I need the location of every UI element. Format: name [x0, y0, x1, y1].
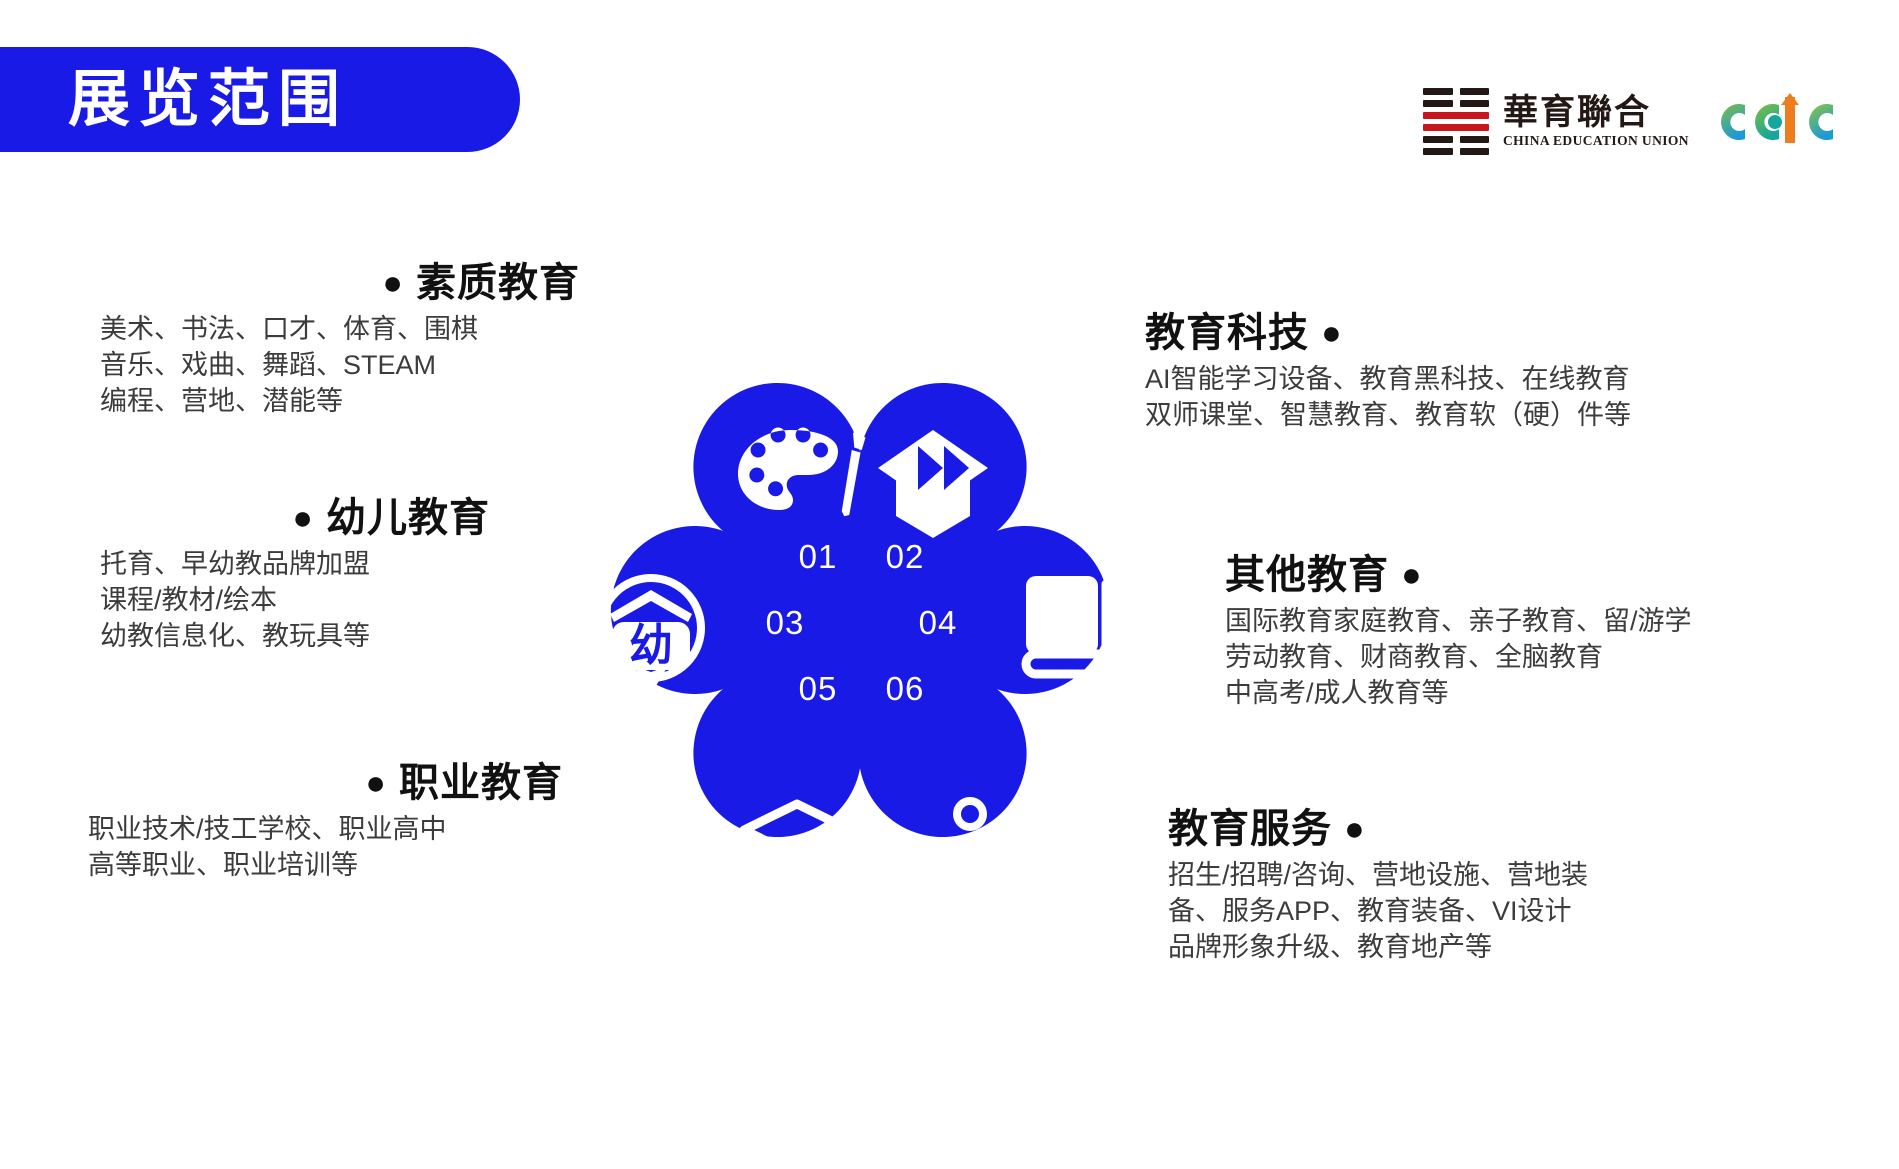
category-heading-05: ● 职业教育 [88, 760, 563, 806]
category-desc-line: 劳动教育、财商教育、全脑教育 [1225, 640, 1692, 676]
page-title-banner: 展览范围 [0, 47, 520, 152]
category-heading-02: 教育科技 ● [1145, 310, 1631, 356]
bullet-icon: ● [1401, 556, 1423, 594]
logo-en-name: CHINA EDUCATION UNION [1503, 133, 1689, 149]
bullet-icon: ● [292, 499, 314, 537]
svg-text:幼: 幼 [629, 621, 673, 670]
category-block-04: 其他教育 ● 国际教育家庭教育、亲子教育、留/游学 劳动教育、财商教育、全脑教育… [1225, 552, 1692, 712]
category-desc-line: 课程/教材/绘本 [100, 583, 490, 619]
category-desc-line: 音乐、戏曲、舞蹈、STEAM [100, 348, 580, 384]
category-desc-line: 品牌形象升级、教育地产等 [1168, 930, 1588, 966]
category-desc-line: AI智能学习设备、教育黑科技、在线教育 [1145, 362, 1631, 398]
category-desc-line: 国际教育家庭教育、亲子教育、留/游学 [1225, 604, 1692, 640]
category-desc-line: 中高考/成人教育等 [1225, 676, 1692, 712]
category-title-06: 教育服务 [1168, 807, 1332, 851]
logo-group: 華育聯合 CHINA EDUCATION UNION [1423, 88, 1841, 155]
category-desc-line: 美术、书法、口才、体育、围棋 [100, 312, 580, 348]
petal-number-04: 04 [919, 604, 958, 641]
bullet-icon: ● [1344, 810, 1366, 848]
category-desc-line: 备、服务APP、教育装备、VI设计 [1168, 894, 1588, 930]
category-block-06: 教育服务 ● 招生/招聘/咨询、营地设施、营地装 备、服务APP、教育装备、VI… [1168, 806, 1588, 966]
bullet-icon: ● [382, 264, 404, 302]
petal-number-01: 01 [799, 538, 838, 575]
ceic-logo-icon [1711, 91, 1841, 153]
logo-cn-name: 華育聯合 [1503, 94, 1689, 132]
logo-wordmark: 華育聯合 CHINA EDUCATION UNION [1503, 94, 1689, 150]
category-desc-line: 双师课堂、智慧教育、教育软（硬）件等 [1145, 398, 1631, 434]
category-desc-line: 高等职业、职业培训等 [88, 848, 563, 884]
category-title-02: 教育科技 [1145, 311, 1309, 355]
category-heading-04: 其他教育 ● [1225, 552, 1692, 598]
petal-number-02: 02 [886, 538, 925, 575]
category-heading-06: 教育服务 ● [1168, 806, 1588, 852]
category-block-02: 教育科技 ● AI智能学习设备、教育黑科技、在线教育 双师课堂、智慧教育、教育软… [1145, 310, 1631, 434]
category-desc-line: 招生/招聘/咨询、营地设施、营地装 [1168, 858, 1588, 894]
category-block-01: ● 素质教育 美术、书法、口才、体育、围棋 音乐、戏曲、舞蹈、STEAM 编程、… [100, 260, 580, 420]
category-title-03: 幼儿教育 [326, 496, 490, 540]
page-title: 展览范围 [68, 69, 348, 131]
bullet-icon: ● [1321, 314, 1343, 352]
category-desc-line: 托育、早幼教品牌加盟 [100, 547, 490, 583]
china-education-union-logo: 華育聯合 CHINA EDUCATION UNION [1423, 88, 1689, 155]
category-title-01: 素质教育 [416, 261, 580, 305]
category-desc-line: 编程、营地、潜能等 [100, 384, 580, 420]
category-block-03: ● 幼儿教育 托育、早幼教品牌加盟 课程/教材/绘本 幼教信息化、教玩具等 [100, 495, 490, 655]
category-title-04: 其他教育 [1225, 553, 1389, 597]
bullet-icon: ● [365, 764, 387, 802]
category-title-05: 职业教育 [399, 761, 563, 805]
category-desc-line: 职业技术/技工学校、职业高中 [88, 812, 563, 848]
category-heading-01: ● 素质教育 [100, 260, 580, 306]
exhibition-scope-infographic: 展览范围 華育聯合 CHINA EDUCATION UNION [0, 0, 1899, 1169]
category-block-05: ● 职业教育 职业技术/技工学校、职业高中 高等职业、职业培训等 [88, 760, 563, 884]
trigram-mark-icon [1423, 88, 1489, 155]
category-desc-line: 幼教信息化、教玩具等 [100, 619, 490, 655]
petal-diagram: 幼 01 02 03 04 [560, 300, 1160, 920]
petal-number-03: 03 [766, 604, 805, 641]
petal-number-06: 06 [886, 670, 925, 707]
petal-number-05: 05 [799, 670, 838, 707]
category-heading-03: ● 幼儿教育 [100, 495, 490, 541]
